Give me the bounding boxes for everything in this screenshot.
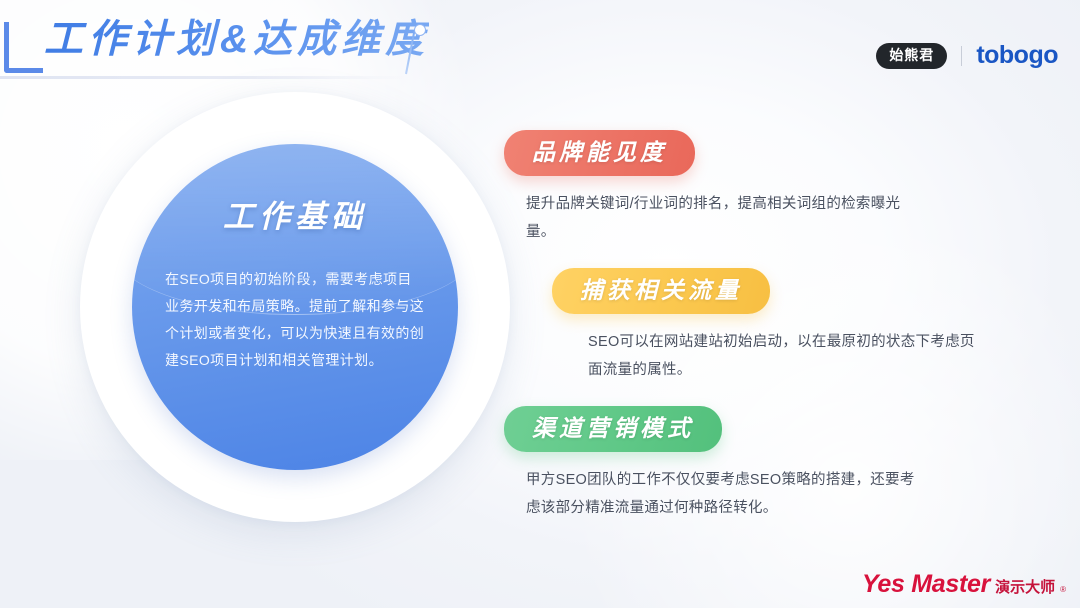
- footer-logo-cn: 演示大师: [995, 579, 1055, 597]
- item-tag-capture-traffic[interactable]: 捕获相关流量: [552, 268, 770, 314]
- page-title: 工作计划&达成维度: [44, 14, 429, 66]
- brand-badge: 始熊君: [876, 43, 947, 69]
- title-bracket-decoration: [4, 22, 43, 73]
- footer-logo-trademark: ®: [1060, 585, 1066, 595]
- circle-blue-disc: 工作基础 在SEO项目的初始阶段，需要考虑项目业务开发和布局策略。提前了解和参与…: [132, 144, 458, 470]
- item-description: 提升品牌关键词/行业词的排名，提高相关词组的检索曝光量。: [526, 190, 926, 246]
- brand-cluster: 始熊君 tobogo: [876, 42, 1058, 69]
- brand-logo: tobogo: [976, 42, 1058, 69]
- title-circle-dot-decoration: [414, 24, 426, 36]
- slide-header: 工作计划&达成维度 始熊君 tobogo: [0, 0, 1080, 86]
- header-divider-rule: [0, 76, 408, 79]
- item-description: SEO可以在网站建站初始启动，以在最原初的状态下考虑页面流量的属性。: [588, 328, 988, 384]
- list-item: 渠道营销模式 甲方SEO团队的工作不仅仅要考虑SEO策略的搭建，还要考虑该部分精…: [504, 406, 1044, 522]
- foundation-circle-group: 工作基础 在SEO项目的初始阶段，需要考虑项目业务开发和布局策略。提前了解和参与…: [80, 92, 510, 522]
- item-tag-brand-visibility[interactable]: 品牌能见度: [504, 130, 695, 176]
- dimension-items-list: 品牌能见度 提升品牌关键词/行业词的排名，提高相关词组的检索曝光量。 捕获相关流…: [504, 130, 1044, 544]
- item-description: 甲方SEO团队的工作不仅仅要考虑SEO策略的搭建，还要考虑该部分精准流量通过何种…: [526, 466, 926, 522]
- list-item: 品牌能见度 提升品牌关键词/行业词的排名，提高相关词组的检索曝光量。: [504, 130, 1044, 246]
- footer-logo-en: Yes Master: [862, 570, 990, 598]
- circle-body-text: 在SEO项目的初始阶段，需要考虑项目业务开发和布局策略。提前了解和参与这个计划或…: [165, 266, 425, 374]
- footer-logo: Yes Master 演示大师 ®: [862, 570, 1066, 598]
- circle-heading: 工作基础: [132, 198, 458, 236]
- list-item: 捕获相关流量 SEO可以在网站建站初始启动，以在最原初的状态下考虑页面流量的属性…: [552, 268, 1044, 384]
- item-tag-channel-marketing[interactable]: 渠道营销模式: [504, 406, 722, 452]
- slide-canvas: 工作计划&达成维度 始熊君 tobogo 工作基础 在SEO项目的初始阶段，需要…: [0, 0, 1080, 608]
- brand-separator: [961, 46, 962, 66]
